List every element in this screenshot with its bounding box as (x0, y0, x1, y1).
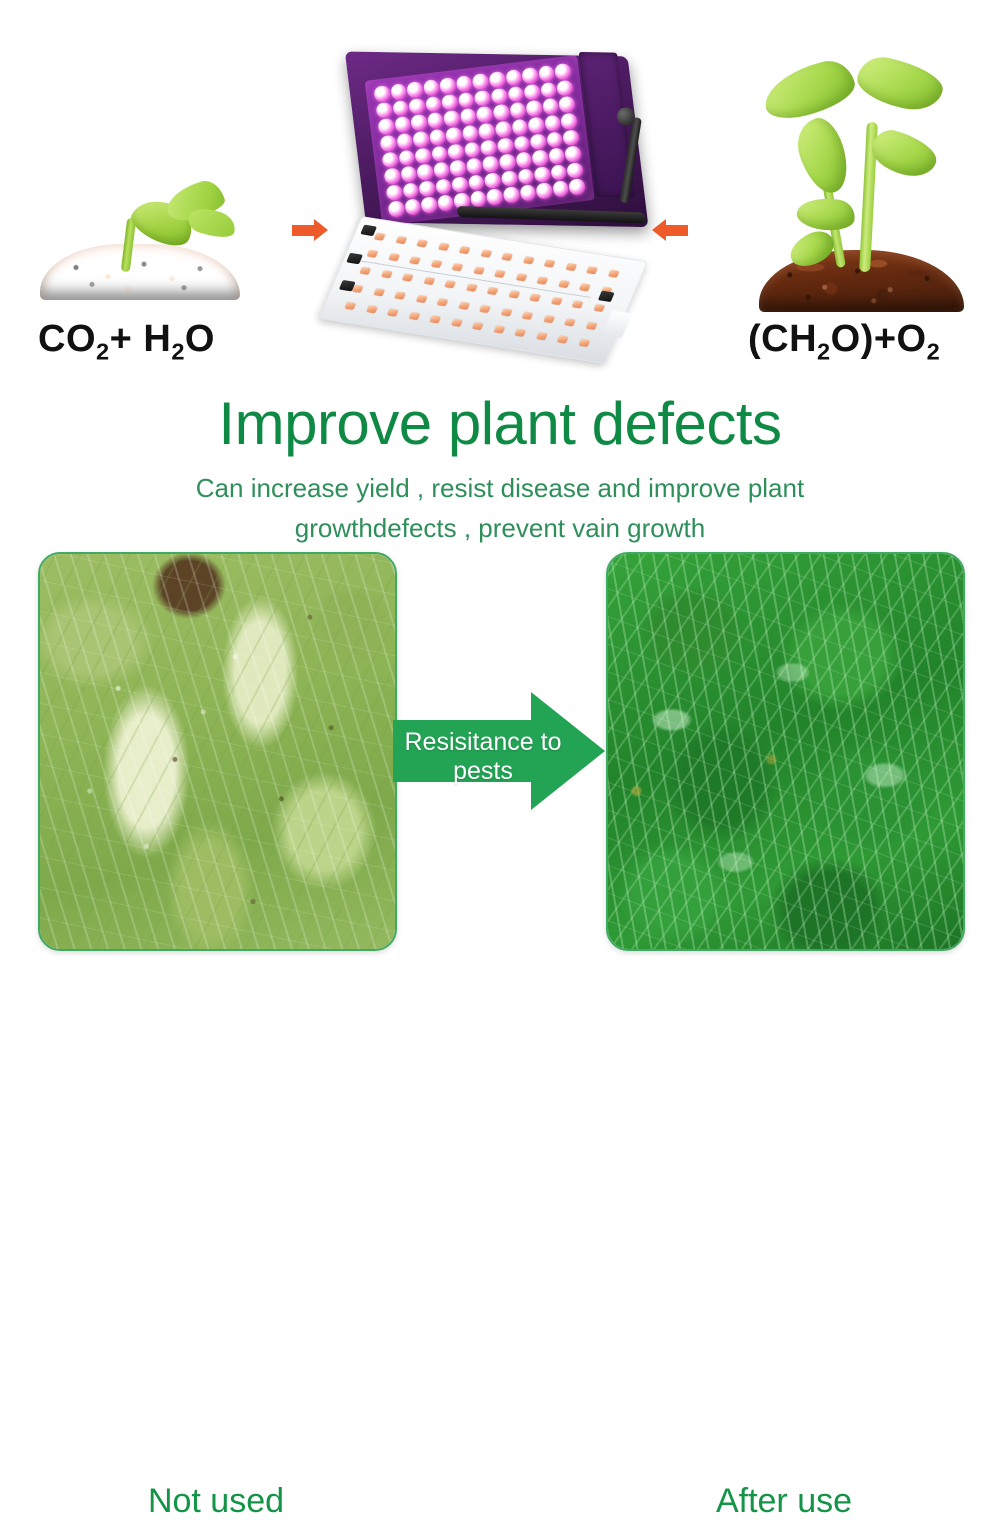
products-formula: (CH2O)+O2 (748, 318, 940, 366)
arrow-label-line-2: pests (399, 757, 567, 786)
led-diode (495, 120, 512, 137)
led-diode (550, 164, 567, 181)
led-chip (387, 309, 399, 317)
led-chip (544, 259, 556, 267)
led-diode (532, 149, 549, 166)
led-chip (394, 291, 406, 299)
led-diode (416, 164, 433, 181)
plant-leaf (867, 126, 941, 183)
plant-leaf (853, 53, 947, 116)
led-chip (536, 332, 548, 340)
led-chip (494, 270, 506, 278)
led-chip (579, 283, 591, 291)
reactants-formula: CO2+ H2O (38, 318, 215, 366)
led-diode (420, 197, 437, 214)
led-chip (429, 316, 441, 324)
led-diode (466, 157, 483, 174)
led-diode (381, 151, 398, 168)
led-diode (386, 184, 403, 201)
led-diode (505, 69, 522, 86)
led-diode (554, 63, 571, 80)
led-diode (526, 100, 543, 117)
led-diode (569, 178, 586, 195)
led-diode (536, 182, 553, 199)
comparison-section: Resisitance to pests Not used After use (0, 552, 1000, 962)
led-chip-grid (337, 227, 626, 352)
led-diode (377, 118, 394, 135)
led-chip (395, 236, 407, 244)
page-title: Improve plant defects (0, 392, 1000, 455)
led-chip (501, 308, 513, 316)
page-subtitle: Can increase yield , resist disease and … (0, 469, 1000, 548)
led-diode (565, 145, 582, 162)
led-chip (479, 305, 491, 313)
subtitle-line-2: growthdefects , prevent vain growth (0, 509, 1000, 549)
led-chip (417, 239, 429, 247)
led-diode (441, 93, 458, 110)
arrow-shaft (292, 225, 314, 236)
led-chip (515, 273, 527, 281)
led-diode (427, 112, 444, 129)
led-diode (476, 106, 493, 123)
led-diode (524, 83, 541, 100)
led-chip (593, 304, 605, 312)
led-diode (509, 102, 526, 119)
led-chip (529, 294, 541, 302)
plant-leaf (759, 56, 860, 125)
led-diode (390, 83, 407, 100)
led-chip (373, 288, 385, 296)
led-diode (493, 104, 510, 121)
led-chip (438, 242, 450, 250)
led-chip (572, 301, 584, 309)
led-chip (502, 253, 514, 261)
led-diode (478, 122, 495, 139)
led-chip (523, 256, 535, 264)
led-diode (460, 108, 477, 125)
led-chip (473, 267, 485, 275)
led-diode (449, 159, 466, 176)
led-diode (534, 166, 551, 183)
led-diode (375, 102, 392, 119)
led-diode (418, 180, 435, 197)
plant-leaf (790, 113, 855, 199)
led-chip (381, 271, 393, 279)
plant-leaf (795, 194, 857, 234)
led-diode (491, 87, 508, 104)
led-chip (416, 295, 428, 303)
led-diode (402, 182, 419, 199)
led-chip (409, 257, 421, 265)
led-chip (522, 312, 534, 320)
led-chip (444, 281, 456, 289)
led-chip (537, 277, 549, 285)
led-chip (550, 298, 562, 306)
led-diode (501, 170, 518, 187)
led-diode (546, 131, 563, 148)
grown-seedling-image (745, 22, 985, 312)
arrow-head (314, 219, 328, 241)
led-diode (412, 131, 429, 148)
led-diode (408, 98, 425, 115)
led-diode (435, 178, 452, 195)
led-diode (404, 199, 421, 216)
led-chip (388, 253, 400, 261)
led-chip (451, 319, 463, 327)
led-diode (513, 135, 530, 152)
led-diode (388, 201, 405, 218)
led-chip (608, 269, 620, 277)
led-diode (556, 79, 573, 96)
formula-text: CO (38, 318, 96, 360)
before-caption: Not used (36, 1482, 396, 1521)
led-chip (487, 287, 499, 295)
leaf-highlight-layer (608, 554, 963, 949)
led-diode (437, 194, 454, 211)
led-diode (484, 172, 501, 189)
arrow-label: Resisitance to pests (399, 728, 567, 786)
led-diode (406, 81, 423, 98)
led-chip (359, 267, 371, 275)
led-diode (528, 116, 545, 133)
led-chip (508, 291, 520, 299)
led-diode (544, 114, 561, 131)
headline-section: Improve plant defects Can increase yield… (0, 392, 1000, 548)
led-chip (459, 246, 471, 254)
formula-text: (CH (748, 318, 817, 360)
led-chip (402, 274, 414, 282)
led-chip (423, 277, 435, 285)
led-chip (493, 326, 505, 334)
led-diode (519, 184, 536, 201)
formula-subscript: 2 (171, 339, 185, 365)
led-chip (466, 284, 478, 292)
led-diode (462, 124, 479, 141)
formula-subscript: 2 (817, 339, 831, 365)
formula-text: O)+O (831, 318, 927, 360)
after-photo (606, 552, 965, 951)
led-diode (521, 67, 538, 84)
pest-resistance-arrow: Resisitance to pests (393, 692, 605, 810)
led-diode (540, 81, 557, 98)
led-diode (538, 65, 555, 82)
soil-mound (40, 244, 240, 300)
led-diode (445, 126, 462, 143)
led-diode (563, 129, 580, 146)
led-diode (468, 174, 485, 191)
led-diode (567, 162, 584, 179)
led-diode (431, 145, 448, 162)
led-diode (507, 85, 524, 102)
arrow-label-line-1: Resisitance to (399, 728, 567, 757)
led-diode (394, 116, 411, 133)
led-diode (503, 186, 520, 203)
led-diode (464, 141, 481, 158)
led-diode (515, 151, 532, 168)
led-chip (408, 312, 420, 320)
led-chip (374, 232, 386, 240)
led-diode (472, 73, 489, 90)
led-diode (373, 85, 390, 102)
arrow-shaft (666, 225, 688, 236)
led-diode (398, 149, 415, 166)
led-diode (456, 75, 473, 92)
led-diode (482, 155, 499, 172)
led-chip (367, 250, 379, 258)
led-chip (565, 263, 577, 271)
led-chip-board (318, 216, 648, 364)
led-chip (558, 280, 570, 288)
led-diode (560, 112, 577, 129)
led-diode (443, 110, 460, 127)
led-diode (400, 166, 417, 183)
led-diode (552, 180, 569, 197)
led-diode (439, 77, 456, 94)
led-diode (499, 153, 516, 170)
formula-text: + H (110, 318, 172, 360)
led-diode (486, 188, 503, 205)
led-chip (437, 298, 449, 306)
led-diode (410, 114, 427, 131)
led-diode (429, 128, 446, 145)
led-diode (480, 139, 497, 156)
led-diode (489, 71, 506, 88)
led-diode (542, 98, 559, 115)
subtitle-line-1: Can increase yield , resist disease and … (0, 469, 1000, 509)
photosynthesis-section: CO2+ H2O (0, 0, 1000, 380)
formula-subscript: 2 (96, 339, 110, 365)
led-chip (345, 302, 357, 310)
led-diode (530, 133, 547, 150)
led-diode-grid (373, 63, 586, 218)
arrow-head (652, 219, 666, 241)
after-caption: After use (604, 1482, 964, 1521)
light-lens (365, 55, 595, 226)
led-chip (578, 339, 590, 347)
led-chip (543, 315, 555, 323)
led-diode (396, 133, 413, 150)
led-chip (514, 329, 526, 337)
led-diode (558, 96, 575, 113)
led-diode (451, 176, 468, 193)
led-chip (366, 306, 378, 314)
led-chip (452, 263, 464, 271)
led-chip (458, 302, 470, 310)
led-diode (458, 91, 475, 108)
led-chip (586, 322, 598, 330)
led-chip (480, 249, 492, 257)
led-chip (430, 260, 442, 268)
led-diode (548, 147, 565, 164)
led-diode (474, 89, 491, 106)
led-diode (447, 143, 464, 160)
led-diode (414, 147, 431, 164)
led-diode (497, 137, 514, 154)
led-diode (392, 100, 409, 117)
led-diode (511, 118, 528, 135)
led-chip (557, 336, 569, 344)
led-diode (517, 168, 534, 185)
led-diode (425, 95, 442, 112)
small-sprout-image (28, 160, 263, 300)
pest-damage-layer (40, 554, 395, 949)
led-chip (564, 318, 576, 326)
formula-subscript: 2 (927, 339, 941, 365)
before-photo (38, 552, 397, 951)
led-chip (472, 322, 484, 330)
led-diode (423, 79, 440, 96)
led-diode (379, 135, 396, 152)
led-diode (433, 161, 450, 178)
led-diode (470, 190, 487, 207)
formula-text: O (185, 318, 215, 360)
led-diode (384, 168, 401, 185)
led-chip (587, 266, 599, 274)
